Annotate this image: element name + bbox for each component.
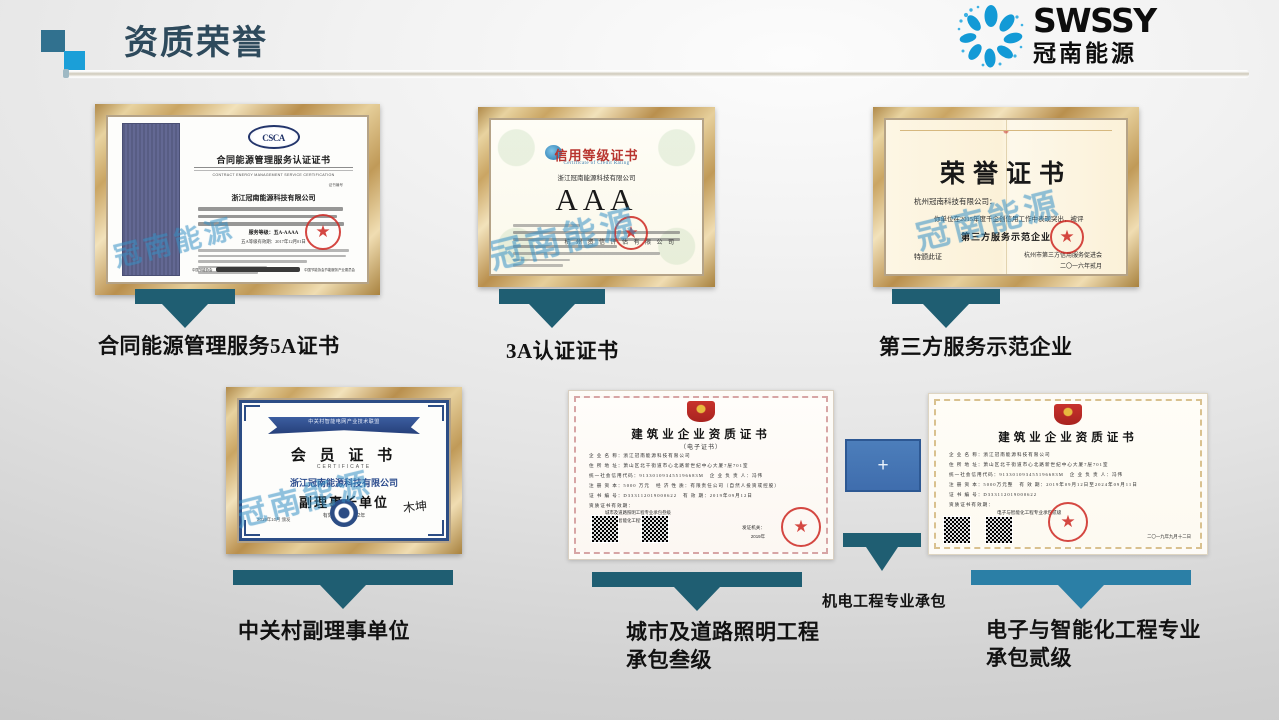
cert6-qr-code-1 [943, 516, 971, 544]
cert5-qr-code-1 [591, 515, 619, 543]
cert5-issue-date: 2019年 [751, 534, 765, 540]
cert3-red-seal [1050, 220, 1084, 254]
plus-icon: + [877, 456, 888, 475]
logo-en-name: SWSSY [1033, 4, 1156, 38]
cert6-field-4: 证 书 编 号：D333112019000622 [949, 492, 1037, 498]
caption-cert-5: 城市及道路照明工程承包叁级 [626, 618, 836, 674]
header-divider [63, 70, 1249, 77]
cert3-award: 第三方服务示范企业 [886, 230, 1126, 243]
cert5-field-4: 证 书 编 号：D333112019000622 [589, 493, 677, 499]
cert2-grade: AAA [491, 182, 702, 218]
cert5-title: 建筑业企业资质证书 [569, 426, 833, 442]
cert6-issue-date: 二〇一九年九月十二日 [1147, 534, 1191, 540]
cert1-rule-top [194, 167, 353, 168]
national-emblem-icon [1054, 404, 1082, 425]
header-decoration-squares [41, 30, 89, 72]
caption-cert-3: 第三方服务示范企业 [879, 333, 1073, 361]
cert4-corner-tr [428, 405, 444, 421]
cert3-note: 特颁此证 [914, 252, 942, 262]
cert5-red-seal [781, 507, 821, 547]
missing-image-placeholder[interactable]: + [845, 439, 921, 492]
cert6-field-1: 住 所 地 址：萧山区北干街道市心北路新世纪中心大厦7层701室 [949, 462, 1108, 468]
cert5-field-2: 统一社会信用代码：913301093455196683M [589, 473, 704, 479]
arrow-cert-1 [135, 289, 235, 328]
cert1-title: 合同能源管理服务认证证书 [188, 153, 359, 166]
csca-logo-icon: CSCA [248, 125, 300, 149]
caption-cert-6: 电子与智能化工程专业承包贰级 [986, 616, 1206, 672]
cert6-title: 建筑业企业资质证书 [929, 429, 1207, 445]
arrow-extra [843, 533, 921, 571]
cert5-rfield-2: 有 效 期：2019年09月12日 [683, 493, 753, 499]
cert1-number: 证书编号 [329, 183, 343, 188]
cert5-field-1: 住 所 地 址：萧山区北干街道市心北路新世纪中心大厦7层701室 [589, 463, 748, 469]
cert5-rfield-0: 企 业 负 责 人：冯伟 [710, 473, 763, 479]
cert5-field-0: 企 业 名 称：浙江冠南能源科技有限公司 [589, 453, 691, 459]
cert1-spine-decor [122, 123, 180, 276]
cert3-ornament [900, 130, 1112, 144]
cert3-title: 荣誉证书 [886, 154, 1126, 190]
cert4-title: 会 员 证 书 [239, 444, 449, 465]
arrow-cert-2 [499, 289, 605, 328]
cert5-qr-code-2 [641, 515, 669, 543]
certificate-image-4[interactable]: 中关村智能电网产业技术联盟 会 员 证 书 CERTIFICATE 浙江冠南能源… [226, 387, 462, 554]
cert6-rfield-1: 有 效 期：2019年09月12日至2024年09月11日 [1019, 482, 1137, 488]
caption-cert-1: 合同能源管理服务5A证书 [98, 332, 340, 360]
certificate-image-3[interactable]: 荣誉证书 杭州冠南科技有限公司： 你单位在2015年度千企创信用工作中表现突出，… [873, 107, 1139, 287]
cert1-rule-bottom [194, 170, 353, 171]
cert6-red-seal [1048, 502, 1088, 542]
cert4-company: 浙江冠南能源科技有限公司 [239, 476, 449, 489]
company-logo: SWSSY 冠南能源 [955, 2, 1220, 70]
certificate-image-5[interactable]: 建筑业企业资质证书 （电子证书） 企 业 名 称：浙江冠南能源科技有限公司 住 … [568, 390, 834, 560]
water-droplet-burst-icon [955, 4, 1027, 68]
cert2-company: 浙江冠南能源科技有限公司 [491, 172, 702, 182]
caption-extra: 机电工程专业承包 [822, 592, 946, 612]
cert6-rfield-0: 企 业 负 责 人：冯伟 [1070, 472, 1123, 478]
cert1-company: 浙江冠南能源科技有限公司 [188, 193, 359, 203]
cert5-issue-label: 发证机关： [742, 525, 765, 531]
cert3-recipient: 杭州冠南科技有限公司： [914, 196, 997, 207]
cert6-field-3: 注 册 资 本：5000万元整 [949, 482, 1013, 488]
cert5-subtitle: （电子证书） [569, 442, 833, 451]
cert4-corner-tl [244, 405, 260, 421]
header-divider-cap [63, 69, 69, 78]
cert6-field-0: 企 业 名 称：浙江冠南能源科技有限公司 [949, 452, 1051, 458]
cert4-emblem-icon [330, 499, 358, 527]
caption-cert-2: 3A认证证书 [506, 337, 619, 365]
cert5-field-3: 注 册 资 本：5000 万元 [589, 483, 650, 489]
arrow-cert-4 [233, 570, 453, 609]
cert1-subtitle: CONTRACT ENERGY MANAGEMENT SERVICE CERTI… [188, 173, 359, 177]
cert2-en-title: Certificate of Credit Rating [491, 161, 702, 166]
slide-root: 资质荣誉 SWSSY [0, 0, 1279, 720]
cert5-field-list: 企 业 名 称：浙江冠南能源科技有限公司 住 所 地 址：萧山区北干街道市心北路… [589, 453, 813, 513]
certificate-image-1[interactable]: CSCA 合同能源管理服务认证证书 CONTRACT ENERGY MANAGE… [95, 104, 380, 295]
cert2-red-seal [614, 216, 648, 250]
caption-cert-4: 中关村副理事单位 [238, 617, 410, 645]
cert1-red-seal [305, 214, 341, 250]
national-emblem-icon [687, 401, 715, 422]
cert5-rfield-1: 经 济 性 质：有限责任公司（自然人投资或控股） [656, 483, 780, 489]
certificate-image-6[interactable]: 建筑业企业资质证书 企 业 名 称：浙江冠南能源科技有限公司 住 所 地 址：萧… [928, 393, 1208, 555]
cert3-body: 你单位在2015年度千企创信用工作中表现突出，被评 [934, 214, 1104, 225]
cert6-qr-code-2 [985, 516, 1013, 544]
page-title: 资质荣誉 [124, 20, 268, 66]
arrow-cert-3 [892, 289, 1000, 328]
arrow-cert-5 [592, 572, 802, 611]
cert6-field-2: 统一社会信用代码：913301093455196683M [949, 472, 1064, 478]
square-dark-icon [41, 30, 65, 52]
cert4-en-title: CERTIFICATE [239, 464, 449, 470]
logo-cn-name: 冠南能源 [1033, 39, 1156, 67]
logo-text: SWSSY 冠南能源 [1033, 4, 1156, 67]
arrow-cert-6 [971, 570, 1191, 609]
cert3-issuer: 杭州市第三方信用服务促进会 二〇一六年贰月 [1024, 251, 1102, 273]
cert6-field-5: 资质证书有效期： [949, 502, 994, 508]
certificate-image-2[interactable]: 信用等级证书 Certificate of Credit Rating 浙江冠南… [478, 107, 715, 287]
cert4-corner-br [428, 520, 444, 536]
